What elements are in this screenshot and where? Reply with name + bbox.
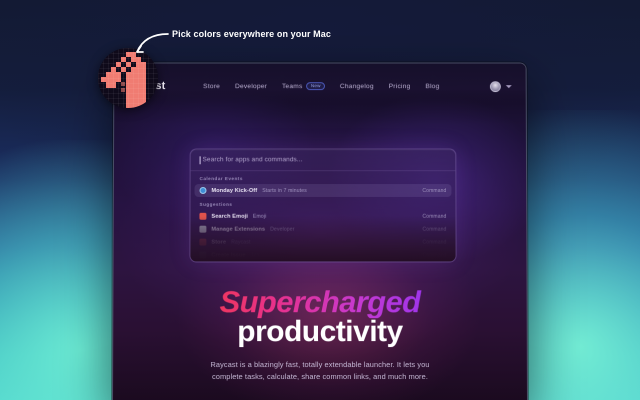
nav-item-label: Teams [282,83,303,90]
chevron-down-icon[interactable] [506,85,512,88]
browser-window: cast Store Developer Teams New Changelog [112,62,528,400]
row-title: Create Issue [211,252,245,258]
account-menu[interactable] [490,81,512,92]
row-subtitle: Starts in 7 minutes [262,188,307,194]
row-kind: Command [423,252,447,258]
nav-item-label: Pricing [389,83,411,90]
row-subtitle: Jira [251,252,260,258]
row-title: Monday Kick-Off [211,188,257,194]
row-kind: Command [423,239,447,245]
hero-subtitle-line-1: Raycast is a blazingly fast, totally ext… [137,359,503,371]
nav-item-blog[interactable]: Blog [425,83,439,90]
row-title: Search Emoji [211,213,248,219]
headline-rest: productivity [137,317,503,347]
calendar-icon [200,187,207,194]
palette-row-manage-extensions[interactable]: Manage Extensions Developer Command [190,223,455,236]
row-title: Manage Extensions [211,226,265,232]
hero-subtitle-line-2: complete tasks, calculate, share common … [137,371,503,383]
magnifier-pixel-grid [98,48,158,108]
section-header-calendar-events: Calendar Events [191,171,456,184]
nav-item-label: Store [203,83,220,90]
nav-item-label: Changelog [340,83,374,90]
row-kind: Command [422,213,446,219]
section-header-suggestions: Suggestions [191,197,456,210]
color-picker-magnifier[interactable] [98,48,158,108]
palette-row-store[interactable]: Store Raycast Command [190,236,455,249]
annotation-label: Pick colors everywhere on your Mac [172,29,331,39]
screenshot-stage: cast Store Developer Teams New Changelog [0,0,640,400]
nav-item-label: Blog [425,83,439,90]
command-palette: Search for apps and commands... Calendar… [189,148,456,262]
hero-section: Supercharged productivity Raycast is a b… [113,286,527,383]
row-subtitle: Raycast [231,239,250,245]
text-caret-icon [200,156,201,164]
palette-search-field[interactable]: Search for apps and commands... [191,149,456,171]
row-subtitle: Developer [270,226,294,232]
nav-item-developer[interactable]: Developer [235,83,267,90]
nav-links: Store Developer Teams New Changelog Pric… [203,82,439,91]
issue-icon [199,252,206,259]
palette-row-search-emoji[interactable]: Search Emoji Emoji Command [190,210,455,223]
nav-item-pricing[interactable]: Pricing [389,83,411,90]
row-kind: Command [423,226,447,232]
nav-item-label: Developer [235,83,267,90]
headline-emphasis: Supercharged [137,286,502,317]
palette-row-monday-kick-off[interactable]: Monday Kick-Off Starts in 7 minutes Comm… [195,184,452,197]
search-input-placeholder: Search for apps and commands... [203,156,303,163]
store-icon [199,239,206,246]
extensions-icon [199,226,206,233]
nav-item-changelog[interactable]: Changelog [340,83,374,90]
nav-item-teams[interactable]: Teams New [282,82,325,91]
site-navbar: cast Store Developer Teams New Changelog [114,73,525,99]
avatar[interactable] [490,81,501,92]
row-title: Store [211,239,226,245]
page-title: Supercharged productivity [137,286,503,347]
emoji-icon [199,213,206,220]
new-badge: New [307,82,325,91]
row-kind: Command [422,188,446,194]
row-subtitle: Emoji [253,213,266,219]
nav-item-store[interactable]: Store [203,83,220,90]
hero-subtitle: Raycast is a blazingly fast, totally ext… [137,359,503,383]
palette-row-create-issue[interactable]: Create Issue Jira Command [190,249,455,262]
